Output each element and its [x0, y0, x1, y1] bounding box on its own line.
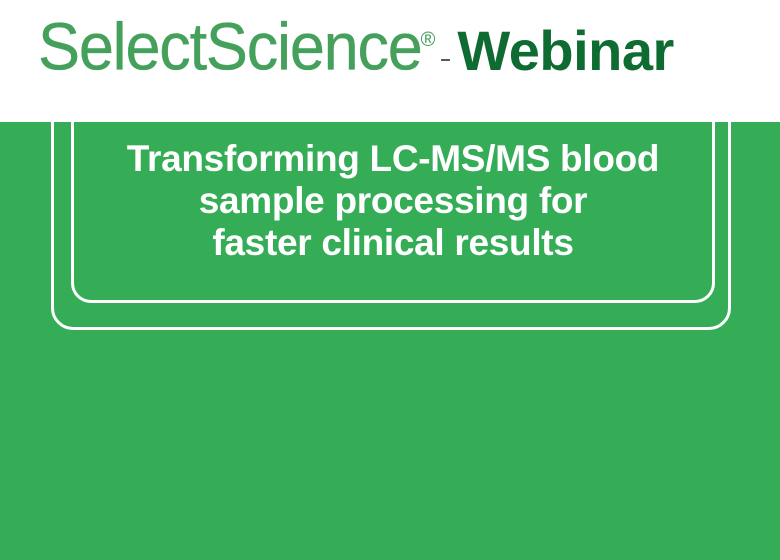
green-background-panel: Transforming LC-MS/MS blood sample proce…: [0, 122, 780, 560]
webinar-title-slide: SelectScience ® Webinar Transforming LC-…: [0, 0, 780, 560]
webinar-label: Webinar: [457, 23, 673, 79]
selectscience-wordmark: SelectScience: [38, 14, 422, 81]
selectscience-webinar-logo: SelectScience ® Webinar: [38, 18, 674, 81]
logo-separator-dash: [441, 59, 450, 61]
webinar-title-line-2: sample processing for: [71, 180, 715, 222]
webinar-title-line-3: faster clinical results: [71, 222, 715, 264]
webinar-title-line-1: Transforming LC-MS/MS blood: [71, 138, 715, 180]
frame-top-mask: [0, 82, 780, 122]
registered-trademark-icon: ®: [421, 30, 436, 50]
webinar-title: Transforming LC-MS/MS blood sample proce…: [71, 138, 715, 264]
